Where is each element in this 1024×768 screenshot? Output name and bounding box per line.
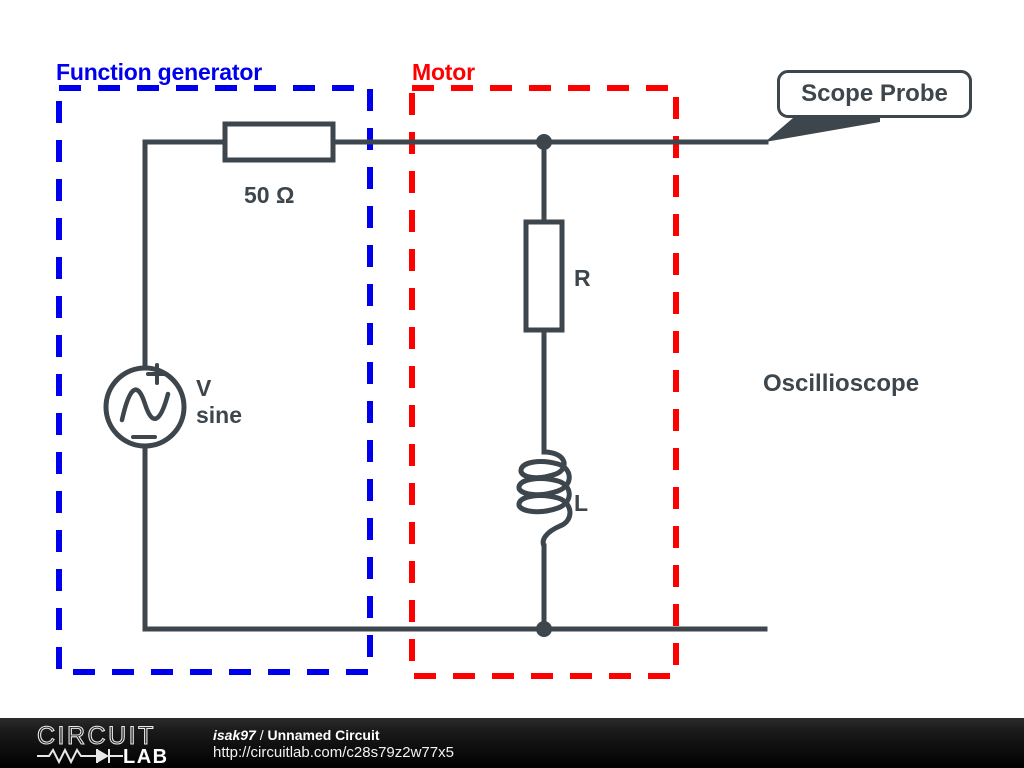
circuitlab-footer: CIRCUIT LAB isak97 / Unnamed Circuit htt… bbox=[0, 718, 1024, 768]
footer-credit-line: isak97 / Unnamed Circuit bbox=[213, 726, 454, 744]
footer-circuit-title: Unnamed Circuit bbox=[268, 727, 380, 743]
series-resistor-value-label: 50 Ω bbox=[244, 182, 294, 209]
scope-probe-callout-text: Scope Probe bbox=[801, 80, 948, 108]
motor-label: Motor bbox=[412, 59, 475, 86]
footer-url[interactable]: http://circuitlab.com/c28s79z2w77x5 bbox=[213, 744, 454, 762]
motor-inductor-label: L bbox=[574, 490, 588, 517]
junction-dot-top bbox=[536, 134, 552, 150]
motor-resistor-label: R bbox=[574, 265, 591, 292]
circuitlab-logo: CIRCUIT LAB bbox=[35, 724, 190, 764]
function-generator-label: Function generator bbox=[56, 59, 262, 86]
voltage-source-label: V sine bbox=[196, 375, 242, 429]
series-resistor-body bbox=[225, 124, 333, 160]
logo-resistor-diode-glyph bbox=[37, 749, 123, 763]
footer-separator: / bbox=[256, 727, 268, 743]
schematic-canvas[interactable]: Function generator Motor 50 Ω V sine R L… bbox=[0, 0, 1024, 718]
oscilloscope-label: Oscillioscope bbox=[763, 370, 919, 398]
motor-inductor-body bbox=[519, 452, 570, 546]
scope-probe-callout: Scope Probe bbox=[777, 70, 972, 118]
voltage-source-label-line1: V bbox=[196, 375, 242, 402]
footer-metadata: isak97 / Unnamed Circuit http://circuitl… bbox=[213, 726, 454, 762]
footer-username: isak97 bbox=[213, 727, 256, 743]
voltage-source-label-line2: sine bbox=[196, 402, 242, 429]
junction-dot-bottom bbox=[536, 621, 552, 637]
logo-text-lab: LAB bbox=[123, 746, 169, 764]
motor-resistor-body bbox=[526, 222, 562, 330]
